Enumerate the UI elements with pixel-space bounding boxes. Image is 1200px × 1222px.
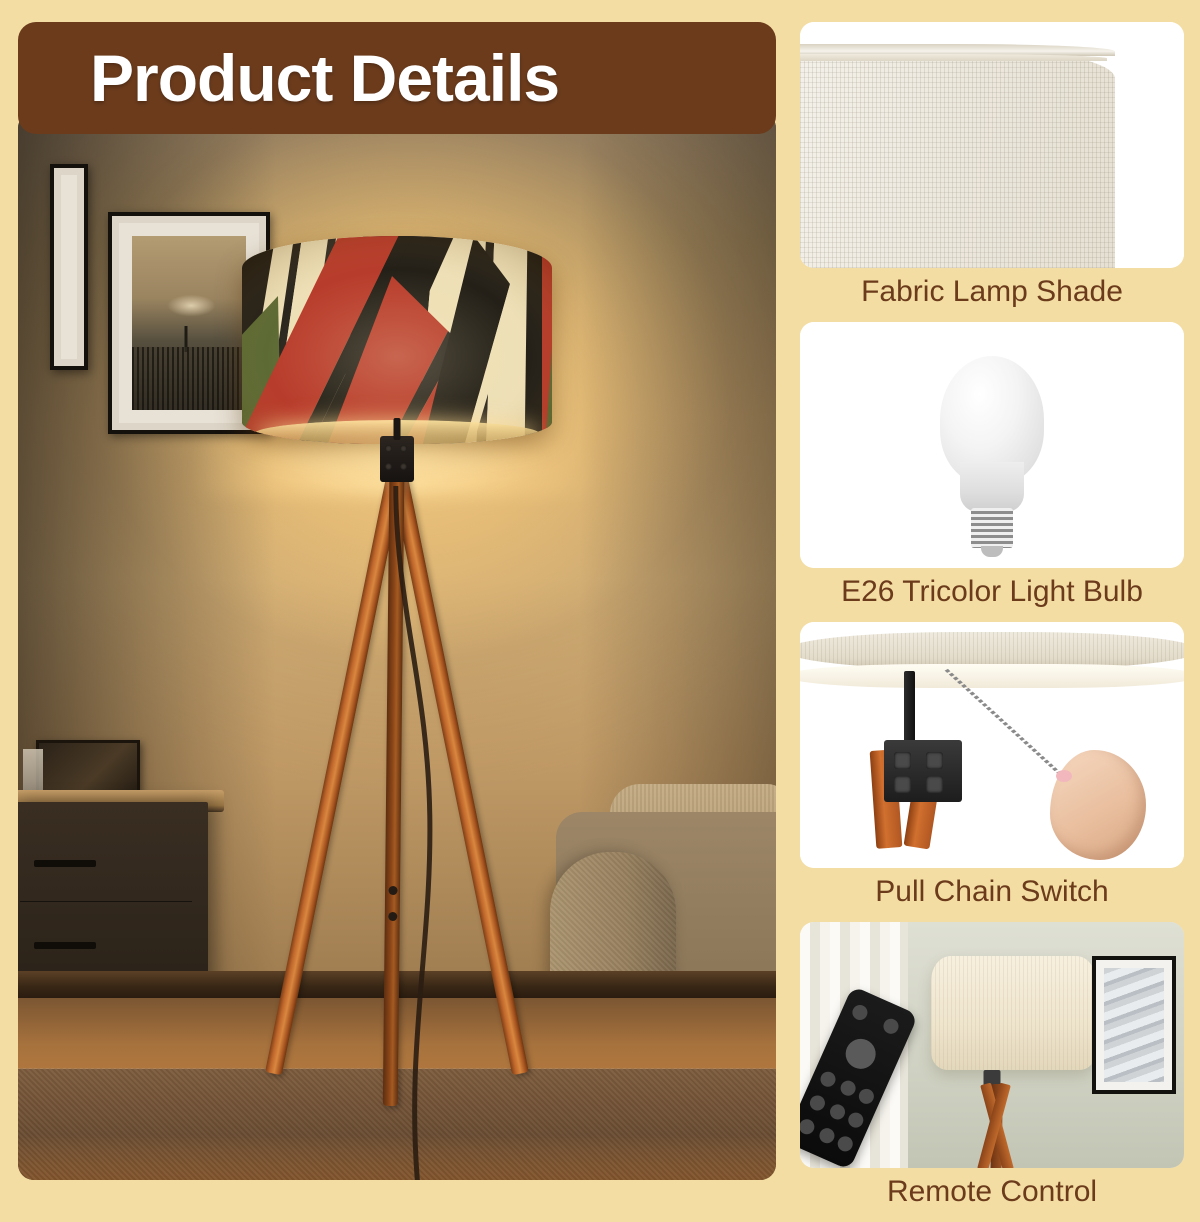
caption-fabric-lamp-shade: Fabric Lamp Shade: [800, 268, 1184, 316]
product-details-infographic: Product Details: [0, 0, 1200, 1200]
lamp-shade: [931, 956, 1096, 1069]
bracket-nut: [894, 776, 911, 793]
remote-button: [881, 1016, 901, 1036]
detail-item-pull-chain-switch: Pull Chain Switch: [800, 622, 1184, 916]
tripod-floor-lamp: [237, 236, 557, 444]
caption-light-bulb: E26 Tricolor Light Bulb: [800, 568, 1184, 616]
pull-chain: [938, 666, 1076, 779]
drawer-handle: [34, 860, 96, 867]
treeline: [132, 347, 246, 410]
fabric-inner-rim: [800, 54, 1107, 61]
bracket-screw: [385, 445, 392, 452]
led-bulb: [800, 322, 1184, 568]
shade-pattern: [242, 236, 552, 444]
remote-power-button: [841, 1034, 881, 1074]
wall-picture-frame-small: [50, 164, 88, 370]
bracket-nut: [894, 752, 911, 769]
bracket-screw: [400, 463, 407, 470]
caption-remote-control: Remote Control: [800, 1168, 1184, 1216]
lamp-bracket: [380, 436, 414, 482]
wall-picture-frame: [1092, 956, 1176, 1094]
leg-screw: [388, 912, 397, 921]
lamp-rod: [904, 671, 915, 745]
bulb-contact-tip: [981, 546, 1003, 557]
remote-button: [808, 1093, 828, 1113]
fabric-surface: [800, 47, 1115, 268]
caption-pull-chain-switch: Pull Chain Switch: [800, 868, 1184, 916]
picture-mat: [61, 175, 77, 359]
bracket-screw: [385, 463, 392, 470]
remote-and-lamp: [800, 922, 1184, 1168]
remote-button: [857, 1087, 877, 1107]
header-banner: Product Details: [18, 22, 776, 134]
fabric-lamp-shade-card: [800, 22, 1184, 268]
remote-button: [846, 1110, 866, 1130]
left-column: Product Details: [18, 22, 776, 1180]
lamp-shade: [242, 236, 552, 444]
hand: [1050, 750, 1146, 860]
picture-image: [1104, 968, 1164, 1082]
detail-item-remote-control: Remote Control: [800, 922, 1184, 1216]
bulb-neck: [960, 462, 1024, 512]
fabric-texture-closeup: [800, 22, 1184, 268]
dresser-drawer: [20, 824, 192, 902]
remote-button: [818, 1069, 838, 1089]
drawer-handle: [34, 942, 96, 949]
pull-chain-switch-card: [800, 622, 1184, 868]
detail-item-fabric-lamp-shade: Fabric Lamp Shade: [800, 22, 1184, 316]
fingernail: [1056, 770, 1072, 782]
page-title: Product Details: [90, 45, 559, 111]
detail-list: Fabric Lamp Shade E26 Tricolor Light Bul…: [800, 22, 1184, 1222]
bracket-screw: [400, 445, 407, 452]
remote-button: [817, 1126, 837, 1146]
main-product-photo: [18, 112, 776, 1180]
remote-control-card: [800, 922, 1184, 1168]
detail-item-light-bulb: E26 Tricolor Light Bulb: [800, 322, 1184, 616]
picture-image: [132, 236, 246, 410]
bulb-screw-base: [971, 508, 1013, 548]
remote-button: [828, 1102, 848, 1122]
remote-button: [836, 1134, 856, 1154]
hand-pulling-chain: [800, 622, 1184, 868]
remote-button: [839, 1078, 859, 1098]
remote-button: [800, 1117, 817, 1137]
leg-screw: [388, 886, 397, 895]
light-bulb-card: [800, 322, 1184, 568]
remote-button: [850, 1003, 870, 1023]
